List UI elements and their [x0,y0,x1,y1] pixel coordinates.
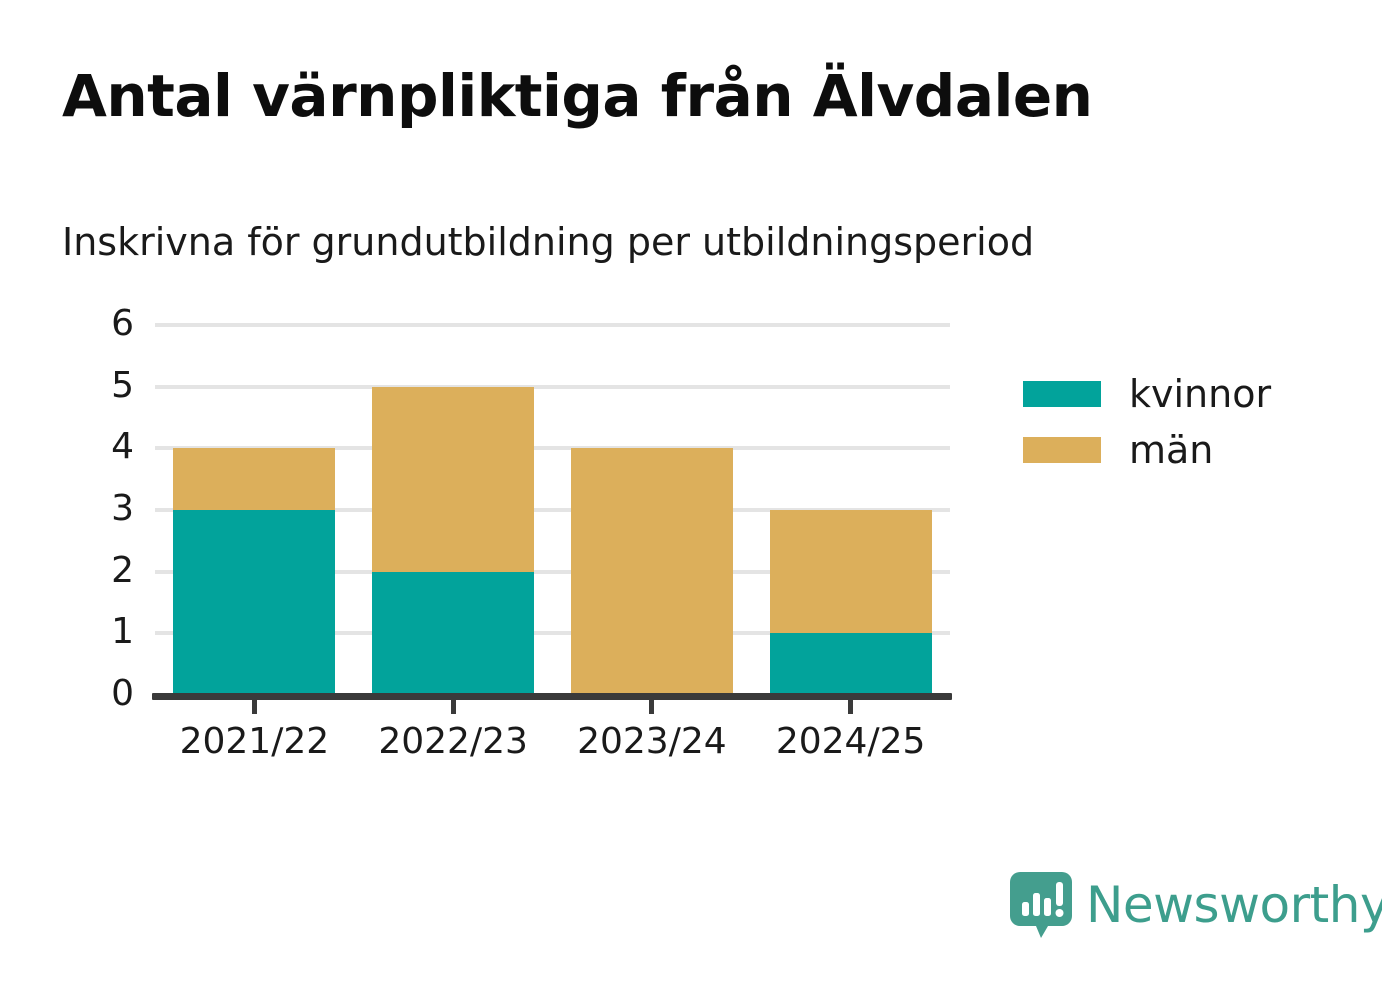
legend-item-man[interactable]: män [1023,422,1271,478]
x-axis-tick [848,699,853,714]
bar-segment-kvinnor[interactable] [173,510,335,695]
y-axis-tick-label: 0 [74,676,134,712]
legend-item-kvinnor[interactable]: kvinnor [1023,366,1271,422]
chart-page: Antal värnpliktiga från Älvdalen Inskriv… [0,0,1382,999]
bar-segment-män[interactable] [571,448,733,695]
bar-stack[interactable] [173,325,335,695]
x-axis-tick [252,699,257,714]
y-axis-tick-label: 5 [74,368,134,404]
bar-segment-män[interactable] [173,448,335,510]
stacked-bar-chart: 0123456 2021/222022/232023/242024/25 [0,0,1382,999]
y-axis-tick-label: 4 [74,429,134,465]
legend-swatch-man [1023,437,1101,463]
chart-legend: kvinnor män [1023,366,1271,478]
x-axis-tick [451,699,456,714]
bar-stack[interactable] [571,325,733,695]
bar-stack[interactable] [372,325,534,695]
legend-label-man: män [1129,431,1213,469]
bar-segment-kvinnor[interactable] [770,633,932,695]
bar-segment-män[interactable] [372,387,534,572]
y-axis-tick-label: 1 [74,614,134,650]
legend-label-kvinnor: kvinnor [1129,375,1271,413]
y-axis-tick-label: 3 [74,491,134,527]
y-axis-tick-label: 2 [74,553,134,589]
x-axis-tick-label: 2024/25 [751,722,950,762]
bar-segment-män[interactable] [770,510,932,633]
x-axis-tick [649,699,654,714]
y-axis-tick-label: 6 [74,306,134,342]
newsworthy-logo: Newsworthy [1010,872,1382,938]
x-axis-tick-label: 2022/23 [354,722,553,762]
bar-stack[interactable] [770,325,932,695]
x-axis-tick-label: 2021/22 [155,722,354,762]
legend-swatch-kvinnor [1023,381,1101,407]
x-axis-tick-label: 2023/24 [553,722,752,762]
plot-area [155,325,950,695]
x-axis-line [152,693,952,700]
bar-segment-kvinnor[interactable] [372,572,534,695]
newsworthy-bubble-chart-icon [1010,872,1072,938]
newsworthy-wordmark: Newsworthy [1086,880,1382,930]
